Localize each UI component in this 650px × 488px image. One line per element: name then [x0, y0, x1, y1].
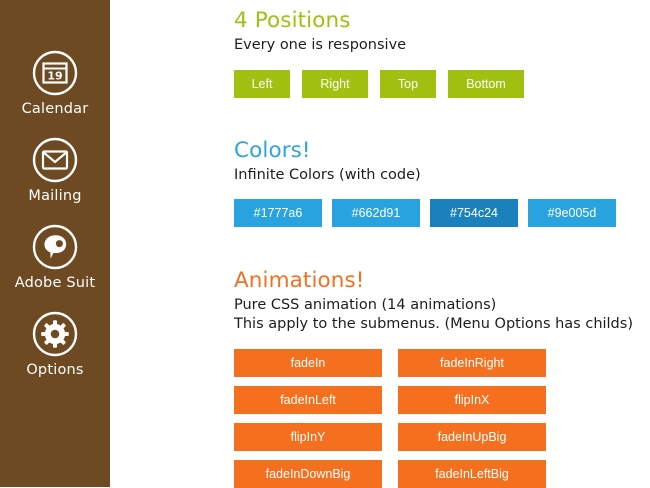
animation-button-fadeinupbig[interactable]: fadeInUpBig [398, 423, 546, 451]
section-animations: Animations! Pure CSS animation (14 anima… [234, 266, 633, 488]
position-button-top[interactable]: Top [380, 70, 436, 98]
color-button-4[interactable]: #9e005d [528, 199, 616, 227]
subtitle-animations-line1: Pure CSS animation (14 animations) [234, 296, 633, 315]
animation-button-fadein[interactable]: fadeIn [234, 349, 382, 377]
animation-button-fadeindownbig[interactable]: fadeInDownBig [234, 460, 382, 488]
speech-bubble-icon [30, 222, 80, 272]
sidebar-item-label: Mailing [0, 187, 110, 205]
envelope-icon [30, 135, 80, 185]
sidebar-item-label: Options [0, 361, 110, 379]
sidebar-item-options[interactable]: Options [0, 309, 110, 379]
sidebar-item-label: Calendar [0, 100, 110, 118]
position-button-left[interactable]: Left [234, 70, 290, 98]
sidebar-item-mailing[interactable]: Mailing [0, 135, 110, 205]
animation-button-fadeinleft[interactable]: fadeInLeft [234, 386, 382, 414]
svg-text:19: 19 [47, 70, 62, 83]
calendar-icon: 19 [30, 48, 80, 98]
animations-button-grid: fadeIn fadeInRight fadeInLeft flipInX fl… [234, 349, 633, 488]
subtitle-animations-line2: This apply to the submenus. (Menu Option… [234, 315, 633, 334]
colors-button-row: #1777a6 #662d91 #754c24 #9e005d [234, 199, 616, 227]
gear-icon [30, 309, 80, 359]
sidebar-item-calendar[interactable]: 19 Calendar [0, 48, 110, 118]
animation-button-flipiny[interactable]: flipInY [234, 423, 382, 451]
page-title-colors: Colors! [234, 136, 616, 166]
section-positions: 4 Positions Every one is responsive Left… [234, 6, 524, 98]
main-content: 4 Positions Every one is responsive Left… [110, 0, 650, 487]
sidebar-item-adobe-suit[interactable]: Adobe Suit [0, 222, 110, 292]
animation-button-flipinx[interactable]: flipInX [398, 386, 546, 414]
page-title-positions: 4 Positions [234, 6, 524, 36]
page-title-animations: Animations! [234, 266, 633, 296]
position-button-bottom[interactable]: Bottom [448, 70, 524, 98]
subtitle-positions: Every one is responsive [234, 36, 524, 55]
color-button-3[interactable]: #754c24 [430, 199, 518, 227]
color-button-1[interactable]: #1777a6 [234, 199, 322, 227]
color-button-2[interactable]: #662d91 [332, 199, 420, 227]
sidebar: 19 Calendar Mailing Adobe Suit [0, 0, 110, 487]
positions-button-row: Left Right Top Bottom [234, 70, 524, 98]
subtitle-colors: Infinite Colors (with code) [234, 166, 616, 185]
sidebar-item-label: Adobe Suit [0, 274, 110, 292]
section-colors: Colors! Infinite Colors (with code) #177… [234, 136, 616, 227]
animation-button-fadeinleftbig[interactable]: fadeInLeftBig [398, 460, 546, 488]
position-button-right[interactable]: Right [302, 70, 368, 98]
animation-button-fadeinright[interactable]: fadeInRight [398, 349, 546, 377]
